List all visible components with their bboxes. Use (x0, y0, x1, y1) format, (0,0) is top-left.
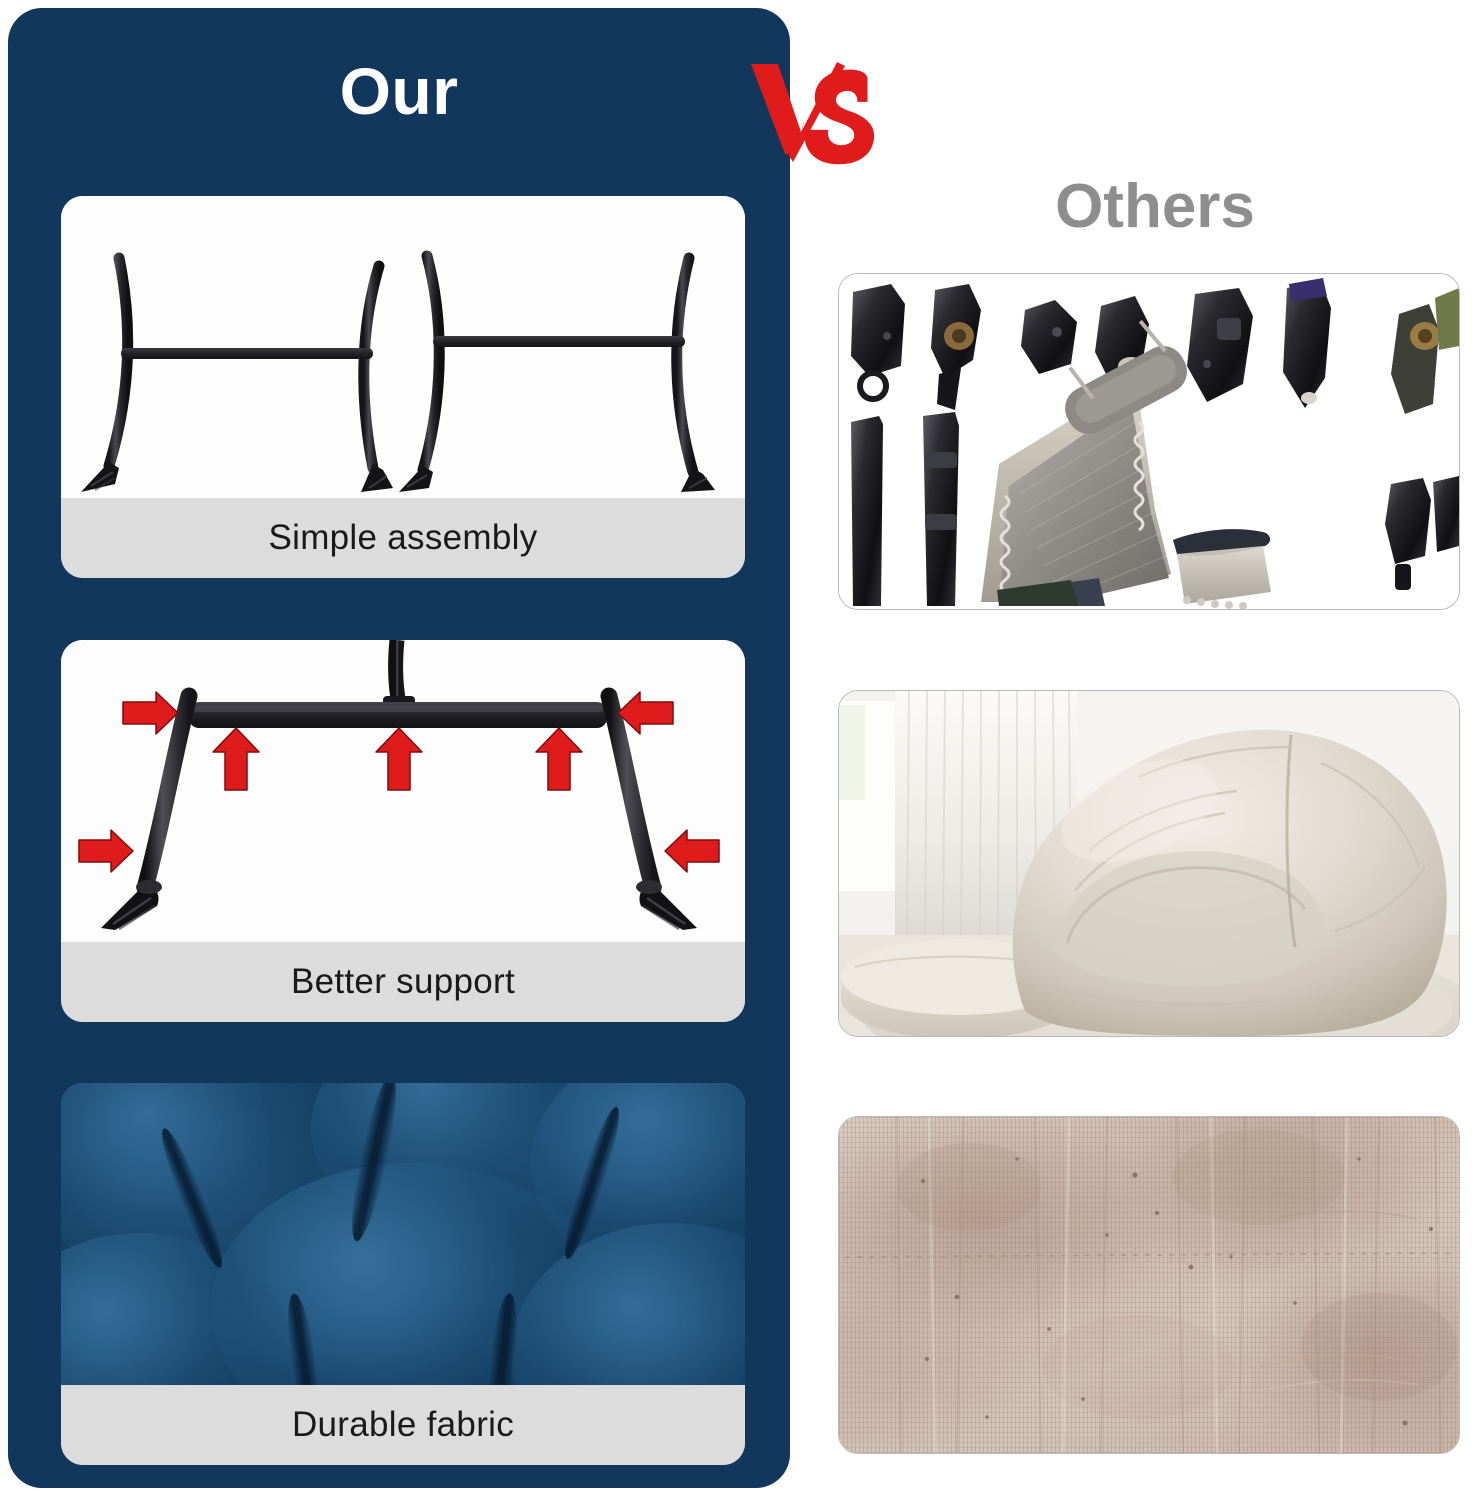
our-card-durable-fabric: Durable fabric (61, 1083, 745, 1465)
force-arrow-up-center (376, 728, 422, 790)
force-arrow-left-top (618, 692, 673, 734)
caption-better-support: Better support (61, 942, 745, 1022)
force-arrow-up-left (213, 728, 259, 790)
force-arrow-right-top (123, 692, 178, 734)
our-title: Our (8, 58, 790, 124)
force-arrow-right-bottom (79, 830, 133, 872)
complex-parts-illustration (839, 274, 1459, 609)
bean-bag-photo (839, 691, 1459, 1036)
others-title: Others (960, 176, 1350, 238)
bean-bag-illustration (839, 691, 1459, 1036)
frame-assembly-photo (61, 196, 745, 498)
vs-badge (745, 58, 880, 173)
others-card-bean-bag (838, 690, 1460, 1037)
base-support-illustration (61, 640, 745, 942)
vs-logo-icon (745, 58, 880, 173)
our-card-simple-assembly: Simple assembly (61, 196, 745, 578)
base-support-photo (61, 640, 745, 942)
others-card-complex-parts (838, 273, 1460, 610)
worn-fabric-detail (839, 1117, 1459, 1453)
our-card-better-support: Better support (61, 640, 745, 1022)
others-card-worn-fabric (838, 1116, 1460, 1454)
complex-parts-photo (839, 274, 1459, 609)
worn-fabric-photo (839, 1117, 1459, 1453)
blue-cushion-photo (61, 1083, 745, 1385)
frame-assembly-illustration (61, 196, 745, 498)
force-arrow-up-right (536, 728, 582, 790)
caption-simple-assembly: Simple assembly (61, 498, 745, 578)
caption-durable-fabric: Durable fabric (61, 1385, 745, 1465)
force-arrow-left-bottom (665, 830, 719, 872)
our-panel: Our (8, 8, 790, 1488)
